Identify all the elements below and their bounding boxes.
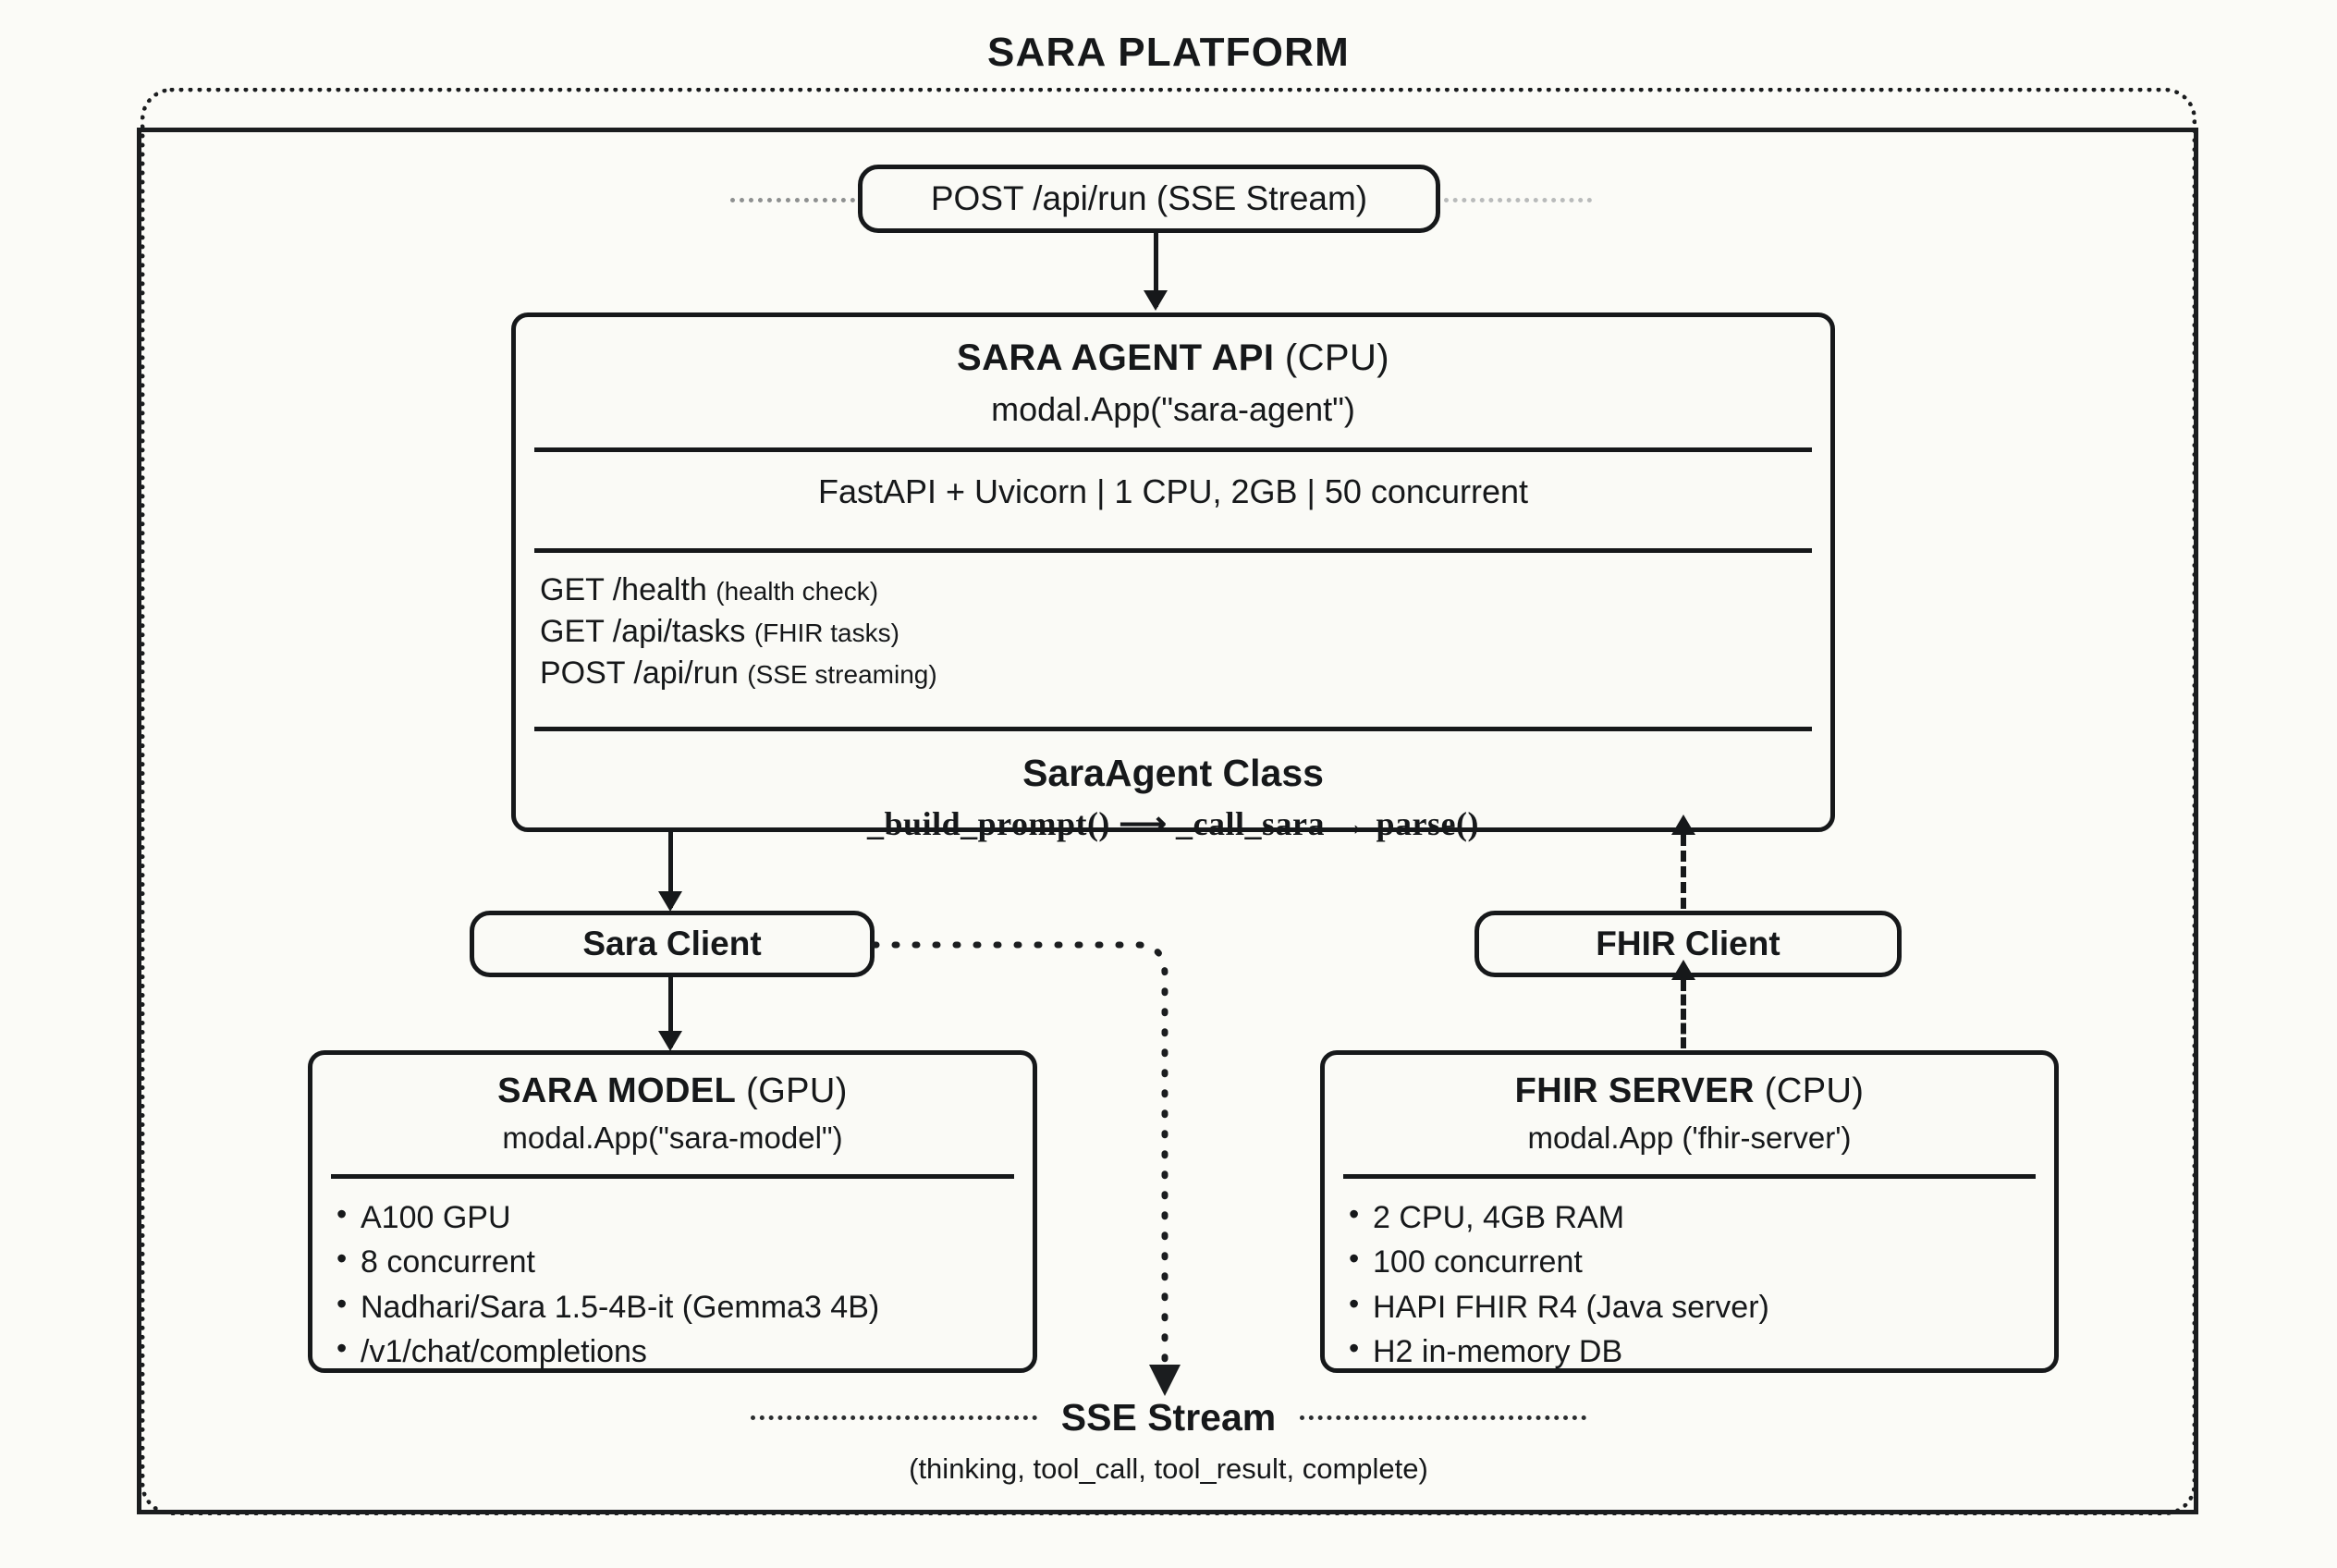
endpoint-row[interactable]: GET /health (health check)	[540, 570, 1830, 611]
agent-api-endpoint-list: GET /health (health check) GET /api/task…	[516, 553, 1830, 708]
page-title: SARA PLATFORM	[956, 30, 1381, 76]
arrow-entry-to-agent-api	[1154, 233, 1158, 307]
agent-api-spec: FastAPI + Uvicorn | 1 CPU, 2GB | 50 conc…	[516, 452, 1830, 530]
arrow-agent-api-to-sara-client	[668, 832, 673, 908]
fhir-server-header: FHIR SERVER (CPU) modal.App ('fhir-serve…	[1325, 1055, 2054, 1156]
fhir-server-title-bold: FHIR SERVER	[1515, 1072, 1755, 1110]
arrow-fhir-server-to-fhir-client	[1681, 980, 1686, 1048]
list-item: Nadhari/Sara 1.5-4B-it (Gemma3 4B)	[333, 1285, 1033, 1329]
fhir-server-title-suffix: (CPU)	[1755, 1072, 1865, 1110]
sse-dotted-line-left	[751, 1415, 1037, 1420]
sara-agent-class-name: SaraAgent Class	[516, 752, 1830, 795]
sse-stream-events: (thinking, tool_call, tool_result, compl…	[0, 1452, 2337, 1486]
endpoint-note: (SSE streaming)	[747, 660, 936, 689]
sara-model-subtitle: modal.App("sara-model")	[312, 1121, 1033, 1156]
sara-agent-class-flow: _build_prompt() ⟶ _call_sara → parse()	[516, 804, 1830, 843]
sara-client-node[interactable]: Sara Client	[470, 911, 875, 977]
fhir-server-spec-list: 2 CPU, 4GB RAM 100 concurrent HAPI FHIR …	[1325, 1179, 2054, 1374]
list-item: A100 GPU	[333, 1195, 1033, 1240]
list-item: HAPI FHIR R4 (Java server)	[1345, 1285, 2054, 1329]
entry-dotted-line-right	[1444, 198, 1592, 202]
sse-stream-footer: SSE Stream (thinking, tool_call, tool_re…	[0, 1396, 2337, 1486]
sara-model-title: SARA MODEL (GPU)	[312, 1072, 1033, 1111]
list-item: /v1/chat/completions	[333, 1329, 1033, 1374]
endpoint-row[interactable]: GET /api/tasks (FHIR tasks)	[540, 611, 1830, 653]
sara-model-header: SARA MODEL (GPU) modal.App("sara-model")	[312, 1055, 1033, 1156]
list-item: 2 CPU, 4GB RAM	[1345, 1195, 2054, 1240]
fhir-server-node[interactable]: FHIR SERVER (CPU) modal.App ('fhir-serve…	[1320, 1050, 2059, 1373]
entry-dotted-line-left	[730, 198, 855, 202]
sse-dotted-line-right	[1300, 1415, 1586, 1420]
endpoint-row[interactable]: POST /api/run (SSE streaming)	[540, 653, 1830, 694]
agent-api-title-suffix: (CPU)	[1274, 337, 1389, 378]
sara-model-title-suffix: (GPU)	[736, 1072, 848, 1110]
agent-api-header: SARA AGENT API (CPU) modal.App("sara-age…	[516, 317, 1830, 429]
agent-api-subtitle: modal.App("sara-agent")	[516, 390, 1830, 429]
list-item: 100 concurrent	[1345, 1240, 2054, 1284]
sara-model-spec-list: A100 GPU 8 concurrent Nadhari/Sara 1.5-4…	[312, 1179, 1033, 1374]
sara-model-node[interactable]: SARA MODEL (GPU) modal.App("sara-model")…	[308, 1050, 1037, 1373]
entry-endpoint-pill[interactable]: POST /api/run (SSE Stream)	[858, 165, 1440, 233]
list-item: 8 concurrent	[333, 1240, 1033, 1284]
entry-endpoint-label: POST /api/run (SSE Stream)	[931, 179, 1367, 218]
endpoint-method: GET /api/tasks	[540, 614, 745, 649]
arrow-sara-client-to-sara-model	[668, 977, 673, 1047]
sse-stream-title-row: SSE Stream	[0, 1396, 2337, 1439]
fhir-server-title: FHIR SERVER (CPU)	[1325, 1072, 2054, 1111]
fhir-server-subtitle: modal.App ('fhir-server')	[1325, 1121, 2054, 1156]
endpoint-method: POST /api/run	[540, 655, 739, 691]
list-item: H2 in-memory DB	[1345, 1329, 2054, 1374]
agent-api-title: SARA AGENT API (CPU)	[516, 337, 1830, 379]
sara-model-title-bold: SARA MODEL	[497, 1072, 736, 1110]
sara-agent-api-node[interactable]: SARA AGENT API (CPU) modal.App("sara-age…	[511, 312, 1835, 832]
agent-api-class-section: SaraAgent Class _build_prompt() ⟶ _call_…	[516, 731, 1830, 843]
sse-route-arrowhead	[1149, 1365, 1181, 1396]
endpoint-note: (FHIR tasks)	[754, 619, 899, 647]
arrow-fhir-client-to-agent-api	[1681, 835, 1686, 909]
agent-api-title-bold: SARA AGENT API	[957, 337, 1274, 378]
fhir-client-label: FHIR Client	[1596, 925, 1780, 963]
sse-stream-title: SSE Stream	[1061, 1396, 1276, 1439]
endpoint-method: GET /health	[540, 572, 707, 607]
endpoint-note: (health check)	[716, 577, 878, 606]
sara-client-label: Sara Client	[582, 925, 761, 963]
